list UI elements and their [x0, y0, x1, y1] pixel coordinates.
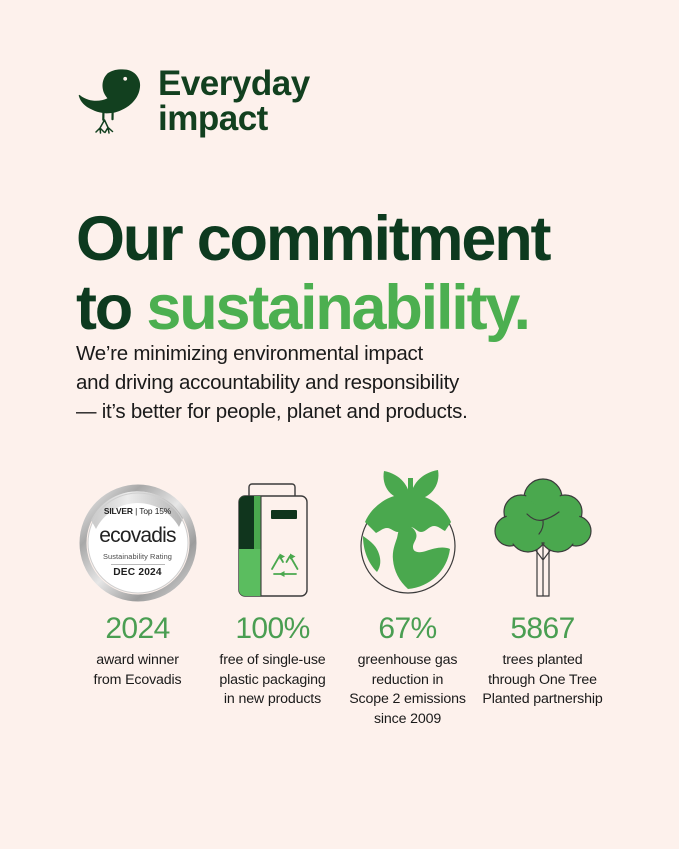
stat-caption-line: greenhouse gas: [349, 651, 466, 671]
stat-item: 67% greenhouse gas reduction in Scope 2 …: [340, 462, 475, 729]
page-title: Our commitment to sustainability.: [76, 205, 636, 342]
stat-caption-line: reduction in: [349, 671, 466, 691]
stat-number: 67%: [378, 612, 436, 645]
stat-caption-line: from Ecovadis: [94, 671, 182, 691]
stat-caption-line: plastic packaging: [219, 671, 325, 691]
stat-item: 5867 trees planted through One Tree Plan…: [475, 462, 610, 710]
brand-wordmark-line2: impact: [158, 102, 310, 137]
stat-caption: trees planted through One Tree Planted p…: [482, 651, 602, 710]
globe-sprout-icon: [353, 464, 463, 602]
stat-caption-line: since 2009: [349, 710, 466, 730]
stat-icon-slot: [353, 462, 463, 602]
recyclable-packaging-icon: [227, 477, 319, 602]
intro-paragraph: We’re minimizing environmental impact an…: [76, 339, 596, 426]
headline-line-1: Our commitment: [76, 204, 549, 274]
stat-icon-slot: SILVER | Top 15% ecovadis Sustainability…: [79, 462, 197, 602]
stat-caption: award winner from Ecovadis: [94, 651, 182, 690]
stat-caption-line: Planted partnership: [482, 690, 602, 710]
stat-caption-line: free of single-use: [219, 651, 325, 671]
stat-caption-line: award winner: [94, 651, 182, 671]
stat-caption-line: trees planted: [482, 651, 602, 671]
stats-row: SILVER | Top 15% ecovadis Sustainability…: [70, 462, 610, 729]
sustainability-infographic: Everyday impact Our commitment to sustai…: [0, 0, 679, 849]
brand-wordmark-line1: Everyday: [158, 67, 310, 102]
stat-icon-slot: [227, 462, 319, 602]
stat-number: 100%: [235, 612, 309, 645]
stat-caption-line: Scope 2 emissions: [349, 690, 466, 710]
intro-line-1: We’re minimizing environmental impact: [76, 339, 596, 368]
stat-number: 5867: [510, 612, 574, 645]
brand-logo: Everyday impact: [78, 63, 310, 139]
intro-line-3: — it’s better for people, planet and pro…: [76, 397, 596, 426]
bird-icon: [78, 63, 144, 139]
stat-item: 100% free of single-use plastic packagin…: [205, 462, 340, 710]
headline-line-2-prefix: to: [76, 273, 146, 343]
intro-line-2: and driving accountability and responsib…: [76, 368, 596, 397]
headline-line-2-highlight: sustainability.: [146, 273, 528, 343]
stat-caption: free of single-use plastic packaging in …: [219, 651, 325, 710]
ecovadis-badge-icon: SILVER | Top 15% ecovadis Sustainability…: [79, 484, 197, 602]
brand-wordmark: Everyday impact: [158, 65, 310, 136]
stat-number: 2024: [105, 612, 169, 645]
ecovadis-badge-graphic: [79, 484, 197, 602]
stat-caption: greenhouse gas reduction in Scope 2 emis…: [349, 651, 466, 729]
tree-icon: [493, 474, 593, 602]
stat-caption-line: in new products: [219, 690, 325, 710]
stat-item: SILVER | Top 15% ecovadis Sustainability…: [70, 462, 205, 690]
stat-icon-slot: [493, 462, 593, 602]
stat-caption-line: through One Tree: [482, 671, 602, 691]
